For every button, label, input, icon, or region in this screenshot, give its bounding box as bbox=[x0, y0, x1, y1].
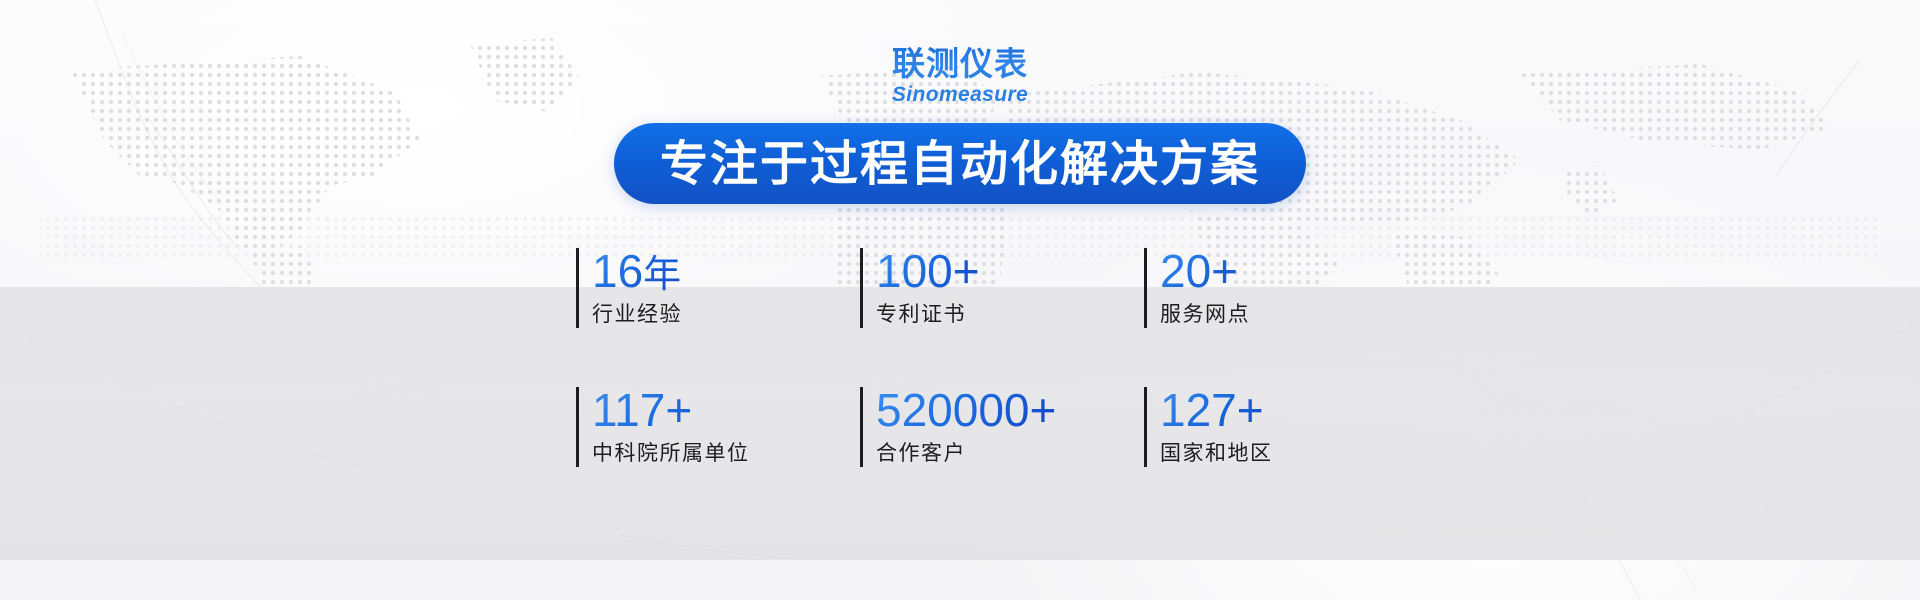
stat-value-unit: 年 bbox=[643, 252, 681, 296]
stat-body: 100+专利证书 bbox=[876, 248, 980, 328]
stat-value: 20+ bbox=[1160, 248, 1250, 295]
stat-label: 中科院所属单位 bbox=[592, 437, 750, 467]
brand-logo: 联测仪表 Sinomeasure bbox=[0, 47, 1920, 105]
stat-divider-bar bbox=[576, 387, 579, 467]
stat-body: 16年行业经验 bbox=[592, 248, 682, 328]
stat-label: 行业经验 bbox=[592, 298, 682, 328]
stat-divider-bar bbox=[1144, 387, 1147, 467]
stat-item: 117+中科院所属单位 bbox=[576, 387, 860, 467]
stat-item: 127+国家和地区 bbox=[1144, 387, 1356, 467]
stat-divider-bar bbox=[860, 248, 863, 328]
stat-label: 国家和地区 bbox=[1160, 437, 1273, 467]
headline-text: 专注于过程自动化解决方案 bbox=[660, 140, 1260, 188]
stat-divider-bar bbox=[860, 387, 863, 467]
stat-divider-bar bbox=[576, 248, 579, 328]
stat-label: 服务网点 bbox=[1160, 298, 1250, 328]
stat-item: 20+服务网点 bbox=[1144, 248, 1356, 328]
stat-body: 117+中科院所属单位 bbox=[592, 387, 750, 467]
stat-divider-bar bbox=[1144, 248, 1147, 328]
stats-row: 16年行业经验100+专利证书20+服务网点 bbox=[576, 248, 1356, 328]
brand-logo-cn: 联测仪表 bbox=[0, 47, 1920, 80]
stat-body: 127+国家和地区 bbox=[1160, 387, 1273, 467]
headline-pill-wrapper: 专注于过程自动化解决方案 bbox=[0, 123, 1920, 204]
stats-row: 117+中科院所属单位520000+合作客户127+国家和地区 bbox=[576, 387, 1356, 467]
brand-logo-en: Sinomeasure bbox=[0, 84, 1920, 105]
stat-item: 16年行业经验 bbox=[576, 248, 860, 328]
stat-label: 专利证书 bbox=[876, 298, 980, 328]
stat-value: 100+ bbox=[876, 248, 980, 295]
stat-item: 100+专利证书 bbox=[860, 248, 1144, 328]
stat-body: 20+服务网点 bbox=[1160, 248, 1250, 328]
stats-grid: 16年行业经验100+专利证书20+服务网点117+中科院所属单位520000+… bbox=[576, 248, 1356, 467]
stat-value: 16年 bbox=[592, 248, 682, 295]
stat-label: 合作客户 bbox=[876, 437, 1056, 467]
stat-item: 520000+合作客户 bbox=[860, 387, 1144, 467]
stat-value: 520000+ bbox=[876, 387, 1056, 434]
stat-value: 117+ bbox=[592, 387, 750, 434]
headline-pill: 专注于过程自动化解决方案 bbox=[614, 123, 1306, 204]
stat-value: 127+ bbox=[1160, 387, 1273, 434]
hero-banner: 联测仪表 Sinomeasure 专注于过程自动化解决方案 16年行业经验100… bbox=[0, 0, 1920, 600]
stat-body: 520000+合作客户 bbox=[876, 387, 1056, 467]
